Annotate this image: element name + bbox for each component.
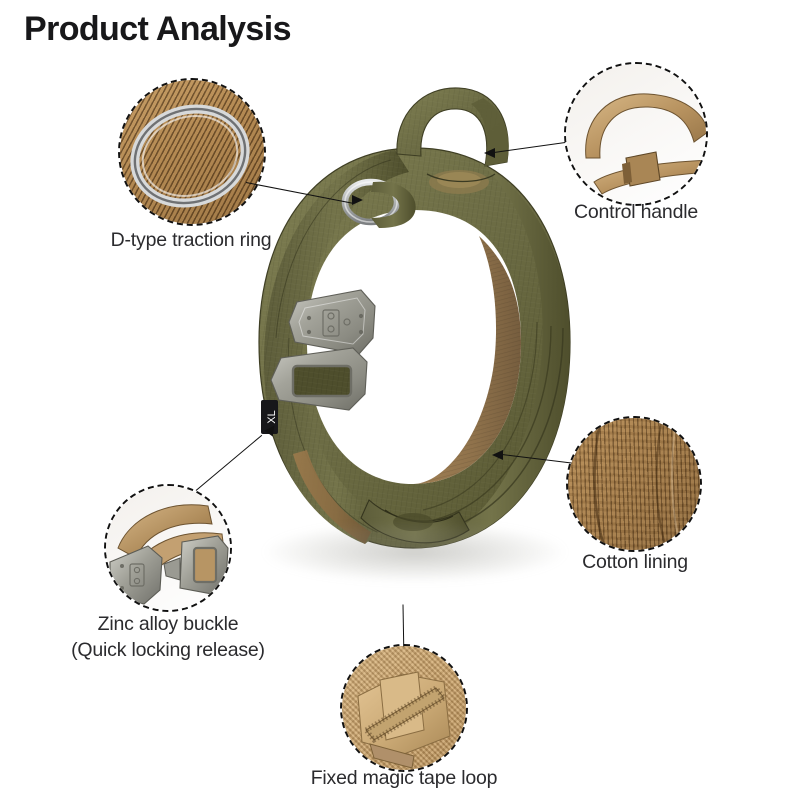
control-handle-closeup-art [564,62,708,206]
infographic-canvas: Product Analysis [0,0,800,800]
page-title: Product Analysis [24,11,291,48]
magic-tape-closeup-art [340,644,468,772]
callout-d-ring-label: D-type traction ring [26,228,356,254]
callout-cotton-lining-label: Cotton lining [520,550,750,576]
product-image-collar: XL [245,70,585,615]
callout-control-handle-circle [564,62,708,206]
cotton-lining-closeup-art [566,416,702,552]
callout-magic-tape-label: Fixed magic tape loop [282,766,526,792]
callout-d-ring-arrow [352,195,363,205]
d-ring-closeup-art [118,78,266,226]
callout-control-handle-label: Control handle [516,200,756,226]
callout-magic-tape-circle [340,644,468,772]
callout-cotton-lining-arrow [492,450,503,460]
callout-zinc-buckle-label-line1: Zinc alloy buckle [28,612,308,638]
callout-control-handle-arrow [484,148,495,158]
callout-cotton-lining-circle [566,416,702,552]
callout-d-ring-circle [118,78,266,226]
callout-zinc-buckle-label-line2: (Quick locking release) [18,638,318,664]
callout-zinc-buckle-circle [104,484,232,612]
zinc-buckle-closeup-art [104,484,232,612]
